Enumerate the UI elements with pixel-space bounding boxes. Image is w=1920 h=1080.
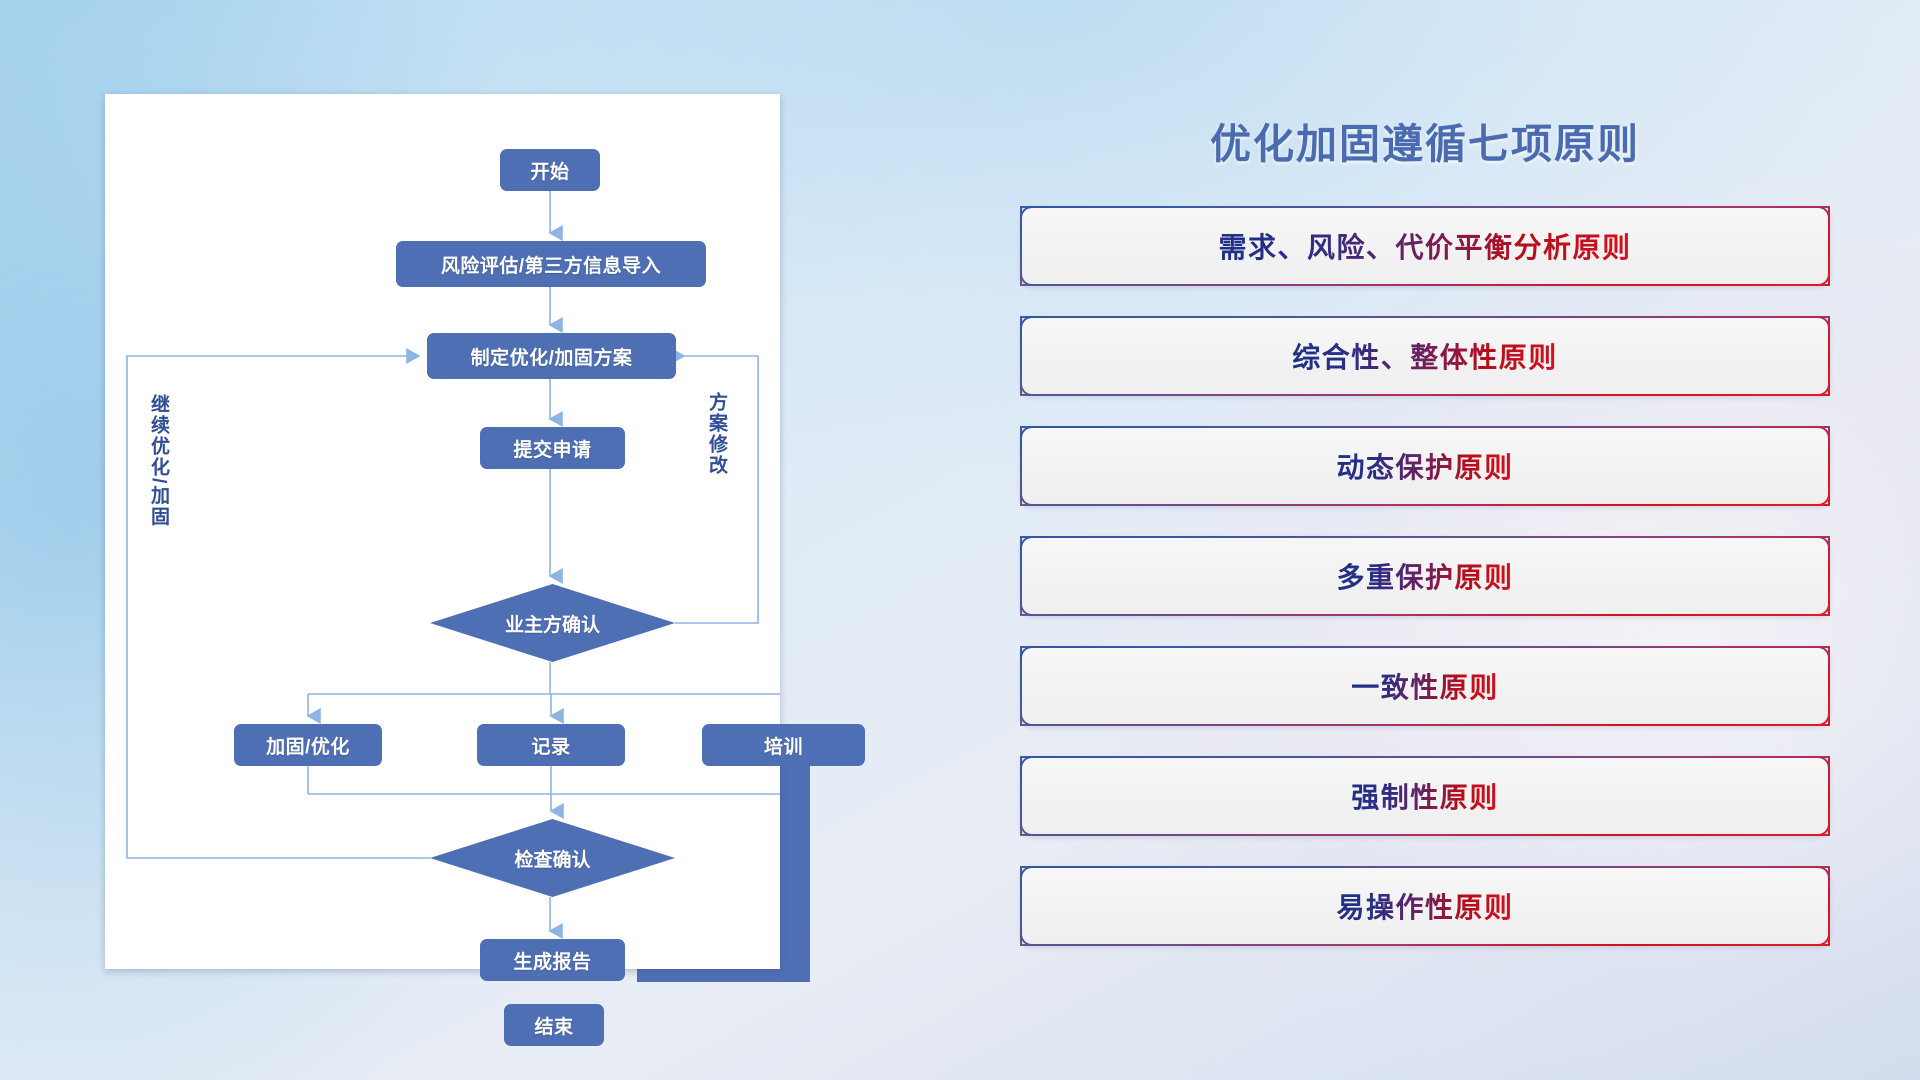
- flow-node-label: 生成报告: [513, 947, 591, 974]
- flow-node-label: 加固/优化: [266, 732, 350, 759]
- principle-label: 综合性、整体性原则: [1292, 336, 1558, 376]
- principle-item-4[interactable]: 多重保护原则: [1020, 536, 1830, 616]
- flow-node-generate-report[interactable]: 生成报告: [480, 939, 625, 981]
- principle-item-1[interactable]: 需求、风险、代价平衡分析原则: [1020, 206, 1830, 286]
- flow-edge-label-continue-optimize: 继续优化/加固: [145, 394, 172, 527]
- flow-node-label: 风险评估/第三方信息导入: [441, 251, 661, 278]
- flow-node-risk-assessment[interactable]: 风险评估/第三方信息导入: [396, 241, 706, 287]
- flow-edge-label-plan-revise: 方案修改: [703, 392, 730, 476]
- principles-panel: 优化加固遵循七项原则 需求、风险、代价平衡分析原则 综合性、整体性原则 动态保护…: [1020, 110, 1830, 1000]
- flow-node-label: 结束: [534, 1012, 573, 1039]
- flowchart-card: 开始 风险评估/第三方信息导入 制定优化/加固方案 提交申请 业主方确认 加固/…: [105, 94, 780, 969]
- flow-node-label: 培训: [764, 732, 803, 759]
- principle-item-5[interactable]: 一致性原则: [1020, 646, 1830, 726]
- flow-node-label: 检查确认: [514, 845, 590, 872]
- flow-decision-inspection-confirm[interactable]: 检查确认: [430, 819, 675, 897]
- flow-node-start[interactable]: 开始: [500, 149, 600, 191]
- flow-node-label: 业主方确认: [505, 610, 600, 637]
- principles-title: 优化加固遵循七项原则: [1020, 110, 1830, 170]
- principle-label: 一致性原则: [1351, 666, 1499, 706]
- principle-label: 动态保护原则: [1336, 446, 1513, 486]
- principle-label: 易操作性原则: [1336, 886, 1513, 926]
- flow-node-label: 制定优化/加固方案: [471, 343, 633, 370]
- flow-node-end[interactable]: 结束: [504, 1004, 604, 1046]
- principle-label: 强制性原则: [1351, 776, 1499, 816]
- flow-node-reinforce-optimize[interactable]: 加固/优化: [234, 724, 382, 766]
- flow-node-label: 记录: [531, 732, 570, 759]
- flow-node-label: 提交申请: [513, 435, 591, 462]
- flow-node-training[interactable]: 培训: [702, 724, 865, 766]
- principle-label: 多重保护原则: [1336, 556, 1513, 596]
- flow-node-label: 开始: [530, 157, 569, 184]
- flow-node-record[interactable]: 记录: [477, 724, 625, 766]
- principle-item-7[interactable]: 易操作性原则: [1020, 866, 1830, 946]
- principle-item-3[interactable]: 动态保护原则: [1020, 426, 1830, 506]
- principle-item-6[interactable]: 强制性原则: [1020, 756, 1830, 836]
- flow-node-submit-application[interactable]: 提交申请: [480, 427, 625, 469]
- flow-decision-owner-confirm[interactable]: 业主方确认: [430, 584, 675, 662]
- principle-item-2[interactable]: 综合性、整体性原则: [1020, 316, 1830, 396]
- principle-label: 需求、风险、代价平衡分析原则: [1218, 226, 1631, 266]
- flow-node-plan[interactable]: 制定优化/加固方案: [427, 333, 676, 379]
